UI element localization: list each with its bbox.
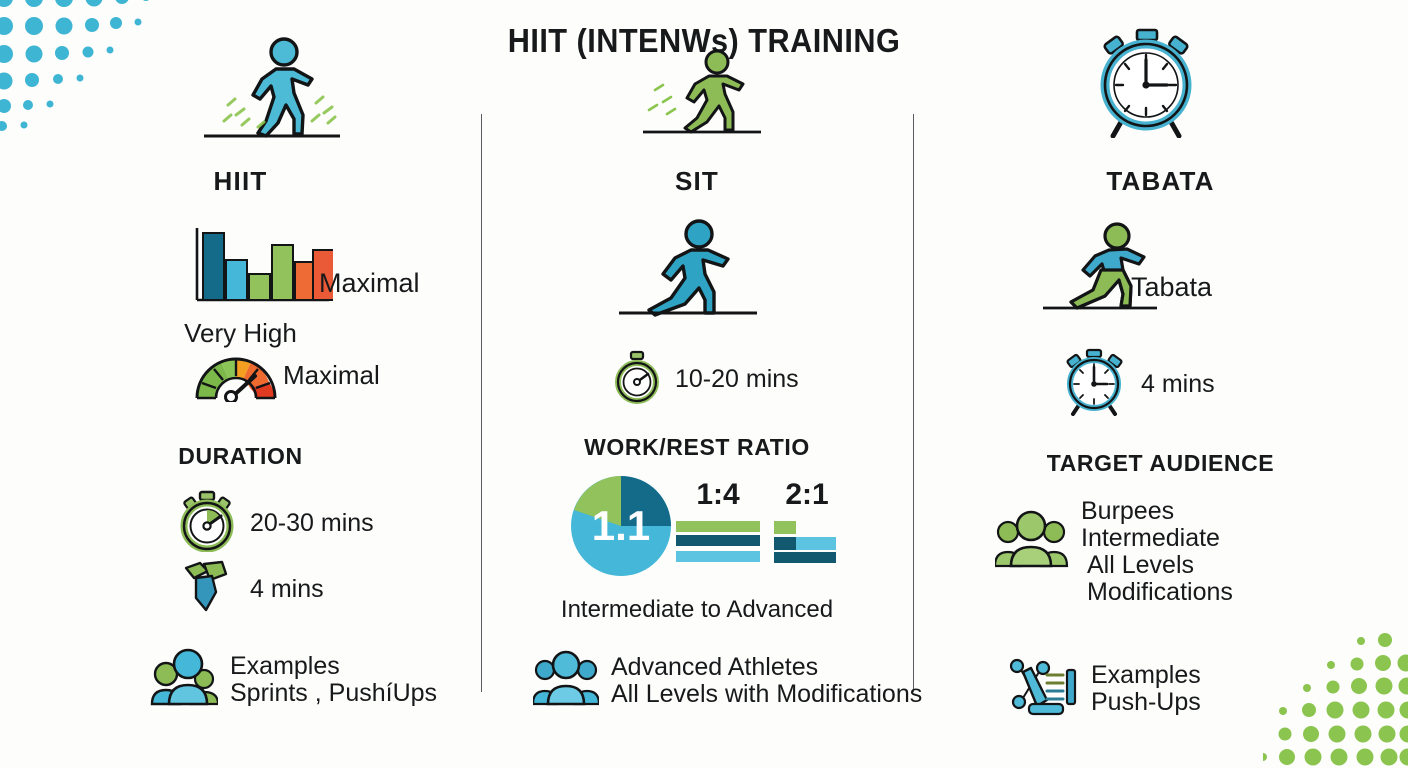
hiit-examples-row: Examples Sprints , PushíUps: [150, 646, 437, 713]
people-group-icon: [150, 646, 218, 713]
sit-audience-row: Advanced Athletes All Levels with Modifi…: [533, 648, 922, 713]
alarm-clock-small-icon: [1061, 348, 1127, 421]
runner-teal-icon: [613, 218, 763, 323]
hiit-examples-line-1: Examples: [230, 653, 437, 680]
section-heading-work-rest: WORK/REST RATIO: [481, 434, 913, 461]
tabata-duration-row: 4 mins: [1061, 348, 1215, 421]
ratio-label-2-1: 2:1: [771, 478, 843, 512]
duration-text-1: 20-30 mins: [250, 510, 374, 537]
tabata-audience-line-1: Burpees: [1081, 498, 1233, 525]
duration-row-1: 20-30 mins: [176, 490, 374, 557]
exercise-equipment-icon: [1009, 656, 1079, 721]
tabata-examples-row: Examples Push-Ups: [1009, 656, 1201, 721]
sit-level-text: Intermediate to Advanced: [481, 596, 913, 624]
ratio-label-1-4: 1:4: [682, 478, 754, 512]
duration-text-2: 4 mins: [250, 576, 324, 603]
stopwatch-green-icon: [611, 350, 663, 409]
tabata-audience-row: Burpees Intermediate All Levels Modifica…: [995, 498, 1233, 606]
sit-duration-text: 10-20 mins: [675, 366, 799, 393]
tabata-audience-line-2: Intermediate: [1081, 525, 1233, 552]
column-hiit: HIIT Maximal Very High: [0, 0, 481, 768]
sit-audience-line-2: All Levels with Modifications: [611, 681, 922, 708]
infographic-canvas: HIIT (INTENWs) TRAINING HI: [0, 0, 1408, 768]
section-heading-target-audience: TARGET AUDIENCE: [913, 450, 1408, 477]
tabata-runner-label: Tabata: [1131, 272, 1212, 303]
people-group-icon: [533, 648, 599, 713]
stopwatch-green-icon: [176, 490, 238, 557]
people-group-green-icon: [995, 508, 1069, 575]
alarm-clock-icon: [1091, 28, 1201, 143]
gauge-label-maximal: Maximal: [283, 360, 380, 391]
heading-tabata: TABATA: [913, 166, 1408, 197]
stacked-bars-wide-icon: [676, 521, 760, 570]
tabata-examples-line-2: Push-Ups: [1091, 689, 1201, 716]
sit-audience-line-1: Advanced Athletes: [611, 654, 922, 681]
column-tabata: TABATA Tabata: [913, 0, 1408, 768]
heading-hiit: HIIT: [0, 166, 481, 197]
runner-green-top-icon: [641, 48, 763, 139]
hiit-chart-label-maximal: Maximal: [319, 268, 420, 299]
hiit-examples-line-2: Sprints , PushíUps: [230, 680, 437, 707]
section-heading-duration: DURATION: [0, 443, 481, 470]
pie-center-label: 1.1: [569, 474, 673, 578]
column-sit: SIT 10: [481, 0, 913, 768]
sit-duration-row: 10-20 mins: [611, 350, 799, 409]
heading-sit: SIT: [481, 166, 913, 197]
tabata-audience-line-4: Modifications: [1087, 579, 1233, 606]
tabata-duration-text: 4 mins: [1141, 371, 1215, 398]
tabata-examples-line-1: Examples: [1091, 662, 1201, 689]
speed-gauge-icon: [191, 352, 281, 407]
hiit-intensity-bar-chart: [193, 228, 333, 311]
stacked-bars-narrow-icon: [774, 521, 836, 570]
dumbbell-green-blue-icon: [182, 558, 238, 621]
duration-row-2: 4 mins: [182, 558, 324, 621]
tabata-audience-line-3: All Levels: [1087, 552, 1233, 579]
hiit-label-very-high: Very High: [0, 318, 481, 349]
runner-blue-icon: [198, 33, 346, 143]
